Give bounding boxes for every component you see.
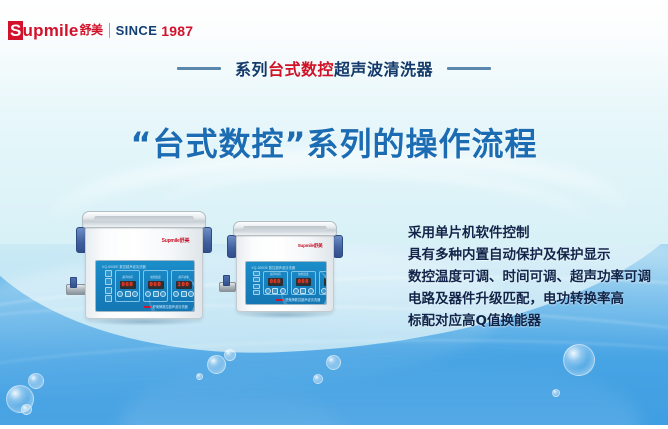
panel-model-label: KQ-500DE 数控超声波清洗器 [102,264,146,269]
rule-left [177,67,221,70]
feature-item: 标配对应高Q值换能器 [408,313,651,330]
subheading-prefix: 系列 [235,60,268,79]
panel-key[interactable] [105,295,112,302]
bubble [21,404,32,415]
panel-key[interactable] [105,270,112,277]
bubble [224,349,236,361]
module-label: 超声时间 [122,275,132,279]
module-label: 超声功率 [326,272,327,276]
product-shadow [87,318,201,326]
knob-row[interactable] [117,291,138,297]
product-small: Supmile舒美 KQ-300DE 数控超声波清洗器 超声时间 060 [233,221,337,312]
panel-key[interactable] [253,290,260,295]
logo-since-label: SINCE [116,23,158,38]
product-brand-mark: Supmile舒美 [162,237,190,244]
bubble [326,355,341,370]
slide-canvas: S upmile 舒美 SINCE 1987 系列台式数控超声波清洗器 “台式数… [0,0,668,429]
subheading-highlight: 台式数控 [268,60,334,79]
product-brand-mark: Supmile舒美 [298,243,323,249]
product-shadow [237,311,333,319]
knob-up[interactable] [132,291,138,297]
panel-key[interactable] [253,277,260,282]
bubble [28,373,44,389]
bubble [563,344,595,376]
product-large: Supmile舒美 KQ-500DE 数控超声波清洗器 超声时间 060 [82,211,206,319]
led-readout: 060 [268,278,283,286]
feature-item: 数控温度可调、时间可调、超声功率可调 [408,269,651,286]
panel-model-label: KQ-300DE 数控超声波清洗器 [252,265,296,270]
bubble [313,374,323,384]
logo-since-year: 1987 [161,23,193,39]
key-column[interactable] [105,270,112,302]
rule-right [447,67,491,70]
tank-body: Supmile舒美 KQ-500DE 数控超声波清洗器 超声时间 060 [85,225,203,319]
knob-set[interactable] [125,291,131,297]
key-column[interactable] [253,271,260,295]
tank-lid [233,221,337,236]
bubble [552,389,560,397]
panel-key[interactable] [253,284,260,289]
logo-wordmark: upmile [23,22,79,39]
tank-lid [82,211,206,228]
subheading-text: 系列台式数控超声波清洗器 [235,56,433,80]
module-time[interactable]: 超声时间 060 [115,270,140,302]
company-logo: S upmile 舒美 SINCE 1987 [8,21,193,40]
handle-right [333,235,343,258]
panel-key[interactable] [105,287,112,294]
drain-valve [66,284,86,295]
subheading-suffix: 超声波清洗器 [334,60,433,79]
logo-initial: S [8,21,23,40]
knob-down[interactable] [117,291,123,297]
control-panel[interactable]: KQ-300DE 数控超声波清洗器 超声时间 060 [245,261,328,305]
control-panel[interactable]: KQ-500DE 数控超声波清洗器 超声时间 060 [95,260,194,312]
panel-key[interactable] [105,278,112,285]
subheading-bar: 系列台式数控超声波清洗器 [0,56,668,80]
bottom-strip [0,425,668,429]
knob-down[interactable] [265,288,271,294]
tank-body: Supmile舒美 KQ-300DE 数控超声波清洗器 超声时间 060 [236,233,334,312]
module-label: 超声时间 [270,272,280,276]
page-title: “台式数控”系列的操作流程 [0,119,668,165]
bubble [196,373,203,380]
drain-valve [219,282,236,292]
logo-divider [109,23,110,38]
bubble [207,355,226,374]
feature-item: 具有多种内置自动保护及保护显示 [408,247,651,264]
led-readout: 060 [120,281,136,289]
panel-key[interactable] [253,271,260,276]
feature-item: 电路及器件升级匹配，电功转换率高 [408,291,651,308]
feature-item: 采用单片机软件控制 [408,225,651,242]
knob-set[interactable] [272,288,278,294]
logo-chinese-name: 舒美 [80,22,103,39]
feature-list: 采用单片机软件控制 具有多种内置自动保护及保护显示 数控温度可调、时间可调、超声… [408,225,651,330]
